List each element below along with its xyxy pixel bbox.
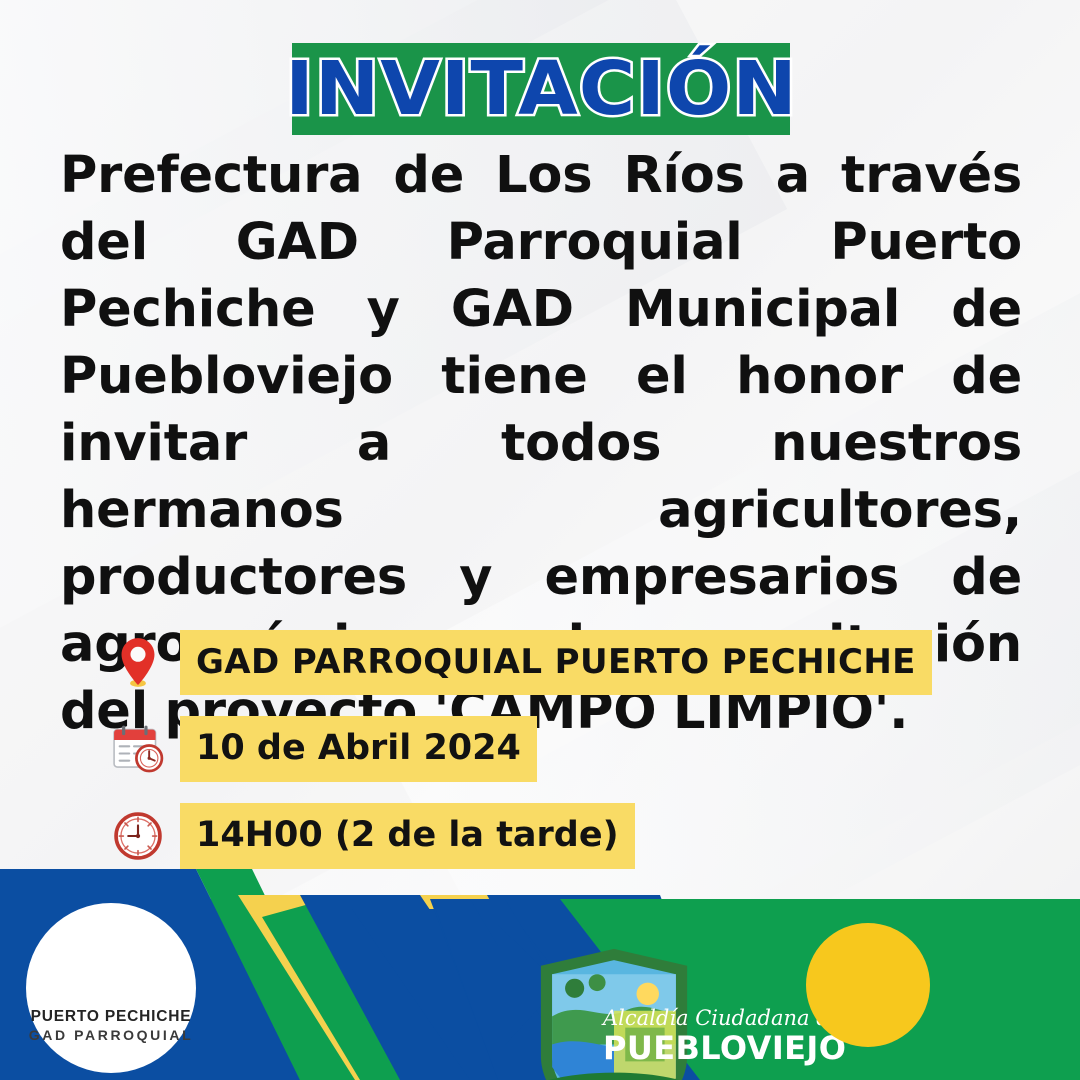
parish-logo: PUERTO PECHICHE GAD PARROQUIAL xyxy=(26,903,196,1073)
parish-crest-icon xyxy=(74,932,148,1006)
parish-logo-subtitle: GAD PARROQUIAL xyxy=(29,1027,193,1044)
date-label: 10 de Abril 2024 xyxy=(180,716,537,782)
map-pin-icon xyxy=(96,625,180,699)
invitation-poster: INVITACIÓN Prefectura de Los Ríos a trav… xyxy=(0,0,1080,1080)
municipal-logo-script: Alcaldía Ciudadana de xyxy=(603,1008,793,1029)
detail-row-date: 10 de Abril 2024 xyxy=(96,711,996,787)
parish-logo-name: PUERTO PECHICHE xyxy=(31,1008,192,1026)
page-title: INVITACIÓN xyxy=(285,52,798,126)
location-label: GAD PARROQUIAL PUERTO PECHICHE xyxy=(180,630,932,695)
coat-of-arms-badge xyxy=(806,923,930,1047)
municipal-logo-name: PUEBLOVIEJO xyxy=(603,1032,793,1064)
puebloviejo-hat-icon xyxy=(658,926,738,1006)
detail-row-location: GAD PARROQUIAL PUERTO PECHICHE xyxy=(96,624,996,700)
municipal-logo: Alcaldía Ciudadana de PUEBLOVIEJO xyxy=(603,926,793,1064)
footer: PUERTO PECHICHE GAD PARROQUIAL xyxy=(0,855,1080,1080)
event-details: GAD PARROQUIAL PUERTO PECHICHE xyxy=(96,624,996,885)
title-banner: INVITACIÓN xyxy=(292,43,790,135)
coat-of-arms-icon xyxy=(826,943,910,1027)
calendar-clock-icon xyxy=(96,712,180,786)
